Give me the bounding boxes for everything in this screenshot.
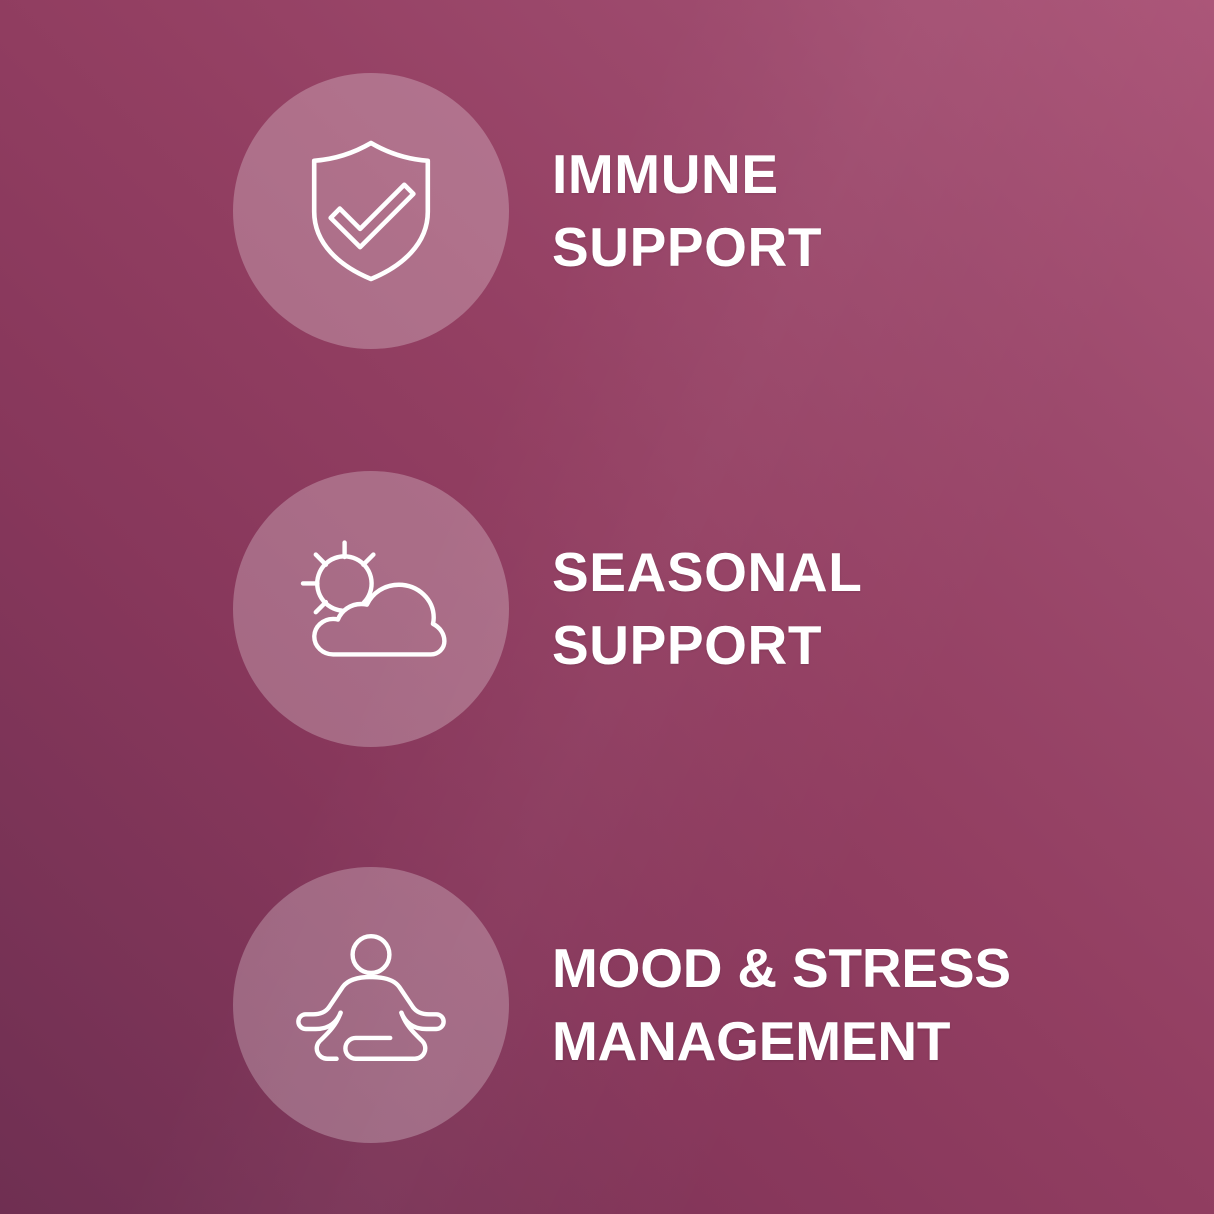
feature-row: IMMUNE SUPPORT [0, 73, 1214, 349]
benefits-poster: IMMUNE SUPPORT SEASONAL SUPPORT [0, 0, 1214, 1214]
icon-badge-mood [233, 867, 509, 1143]
icon-badge-immune [233, 73, 509, 349]
feature-label-mood: MOOD & STRESS MANAGEMENT [552, 932, 1011, 1077]
meditation-lotus-icon [291, 925, 451, 1085]
feature-row: SEASONAL SUPPORT [0, 471, 1214, 747]
shield-check-icon [291, 131, 451, 291]
feature-list: IMMUNE SUPPORT SEASONAL SUPPORT [0, 0, 1214, 1214]
feature-label-seasonal: SEASONAL SUPPORT [552, 536, 862, 681]
feature-row: MOOD & STRESS MANAGEMENT [0, 867, 1214, 1143]
icon-badge-seasonal [233, 471, 509, 747]
sun-cloud-icon [291, 529, 451, 689]
feature-label-immune: IMMUNE SUPPORT [552, 138, 822, 283]
